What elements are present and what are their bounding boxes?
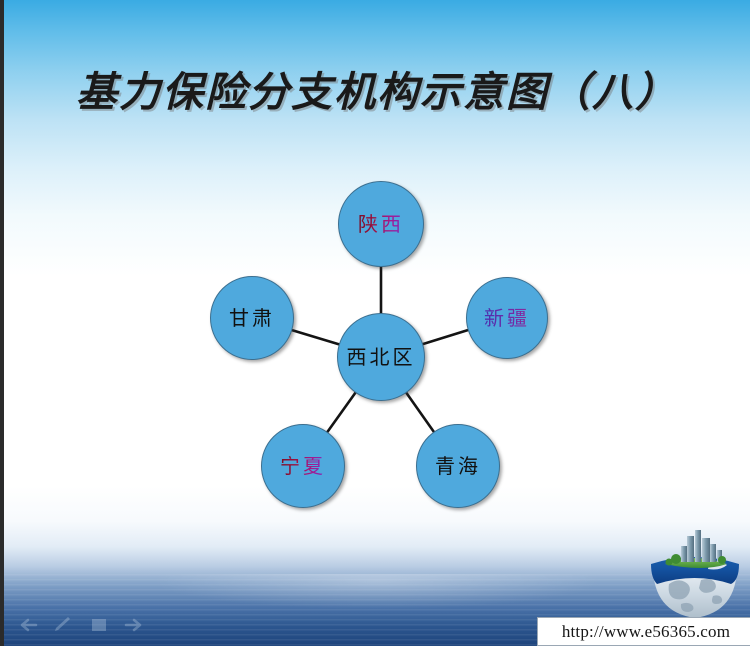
diagram-node-qinghai-label: 青海	[435, 456, 481, 476]
slide-canvas: 基力保险分支机构示意图（八） 西北区 陕西 新疆 青海 宁夏 甘肃	[0, 0, 750, 646]
diagram-node-xinjiang-label: 新疆	[484, 308, 530, 328]
diagram-node-shaanxi[interactable]: 陕西	[338, 181, 424, 267]
diagram-node-shaanxi-label: 陕西	[358, 214, 404, 234]
diagram-node-center-label: 西北区	[347, 347, 416, 367]
website-url-plate[interactable]: http://www.e56365.com	[537, 617, 750, 646]
diagram-node-ningxia[interactable]: 宁夏	[261, 424, 345, 508]
diagram-node-gansu[interactable]: 甘肃	[210, 276, 294, 360]
org-diagram: 西北区 陕西 新疆 青海 宁夏 甘肃	[4, 0, 750, 646]
diagram-node-xinjiang[interactable]: 新疆	[466, 277, 548, 359]
diagram-node-center[interactable]: 西北区	[337, 313, 425, 401]
website-url-text: http://www.e56365.com	[562, 622, 730, 642]
diagram-node-ningxia-label: 宁夏	[280, 456, 326, 476]
diagram-node-qinghai[interactable]: 青海	[416, 424, 500, 508]
earth-city-globe-logo	[643, 522, 747, 626]
diagram-node-gansu-label: 甘肃	[229, 308, 275, 328]
